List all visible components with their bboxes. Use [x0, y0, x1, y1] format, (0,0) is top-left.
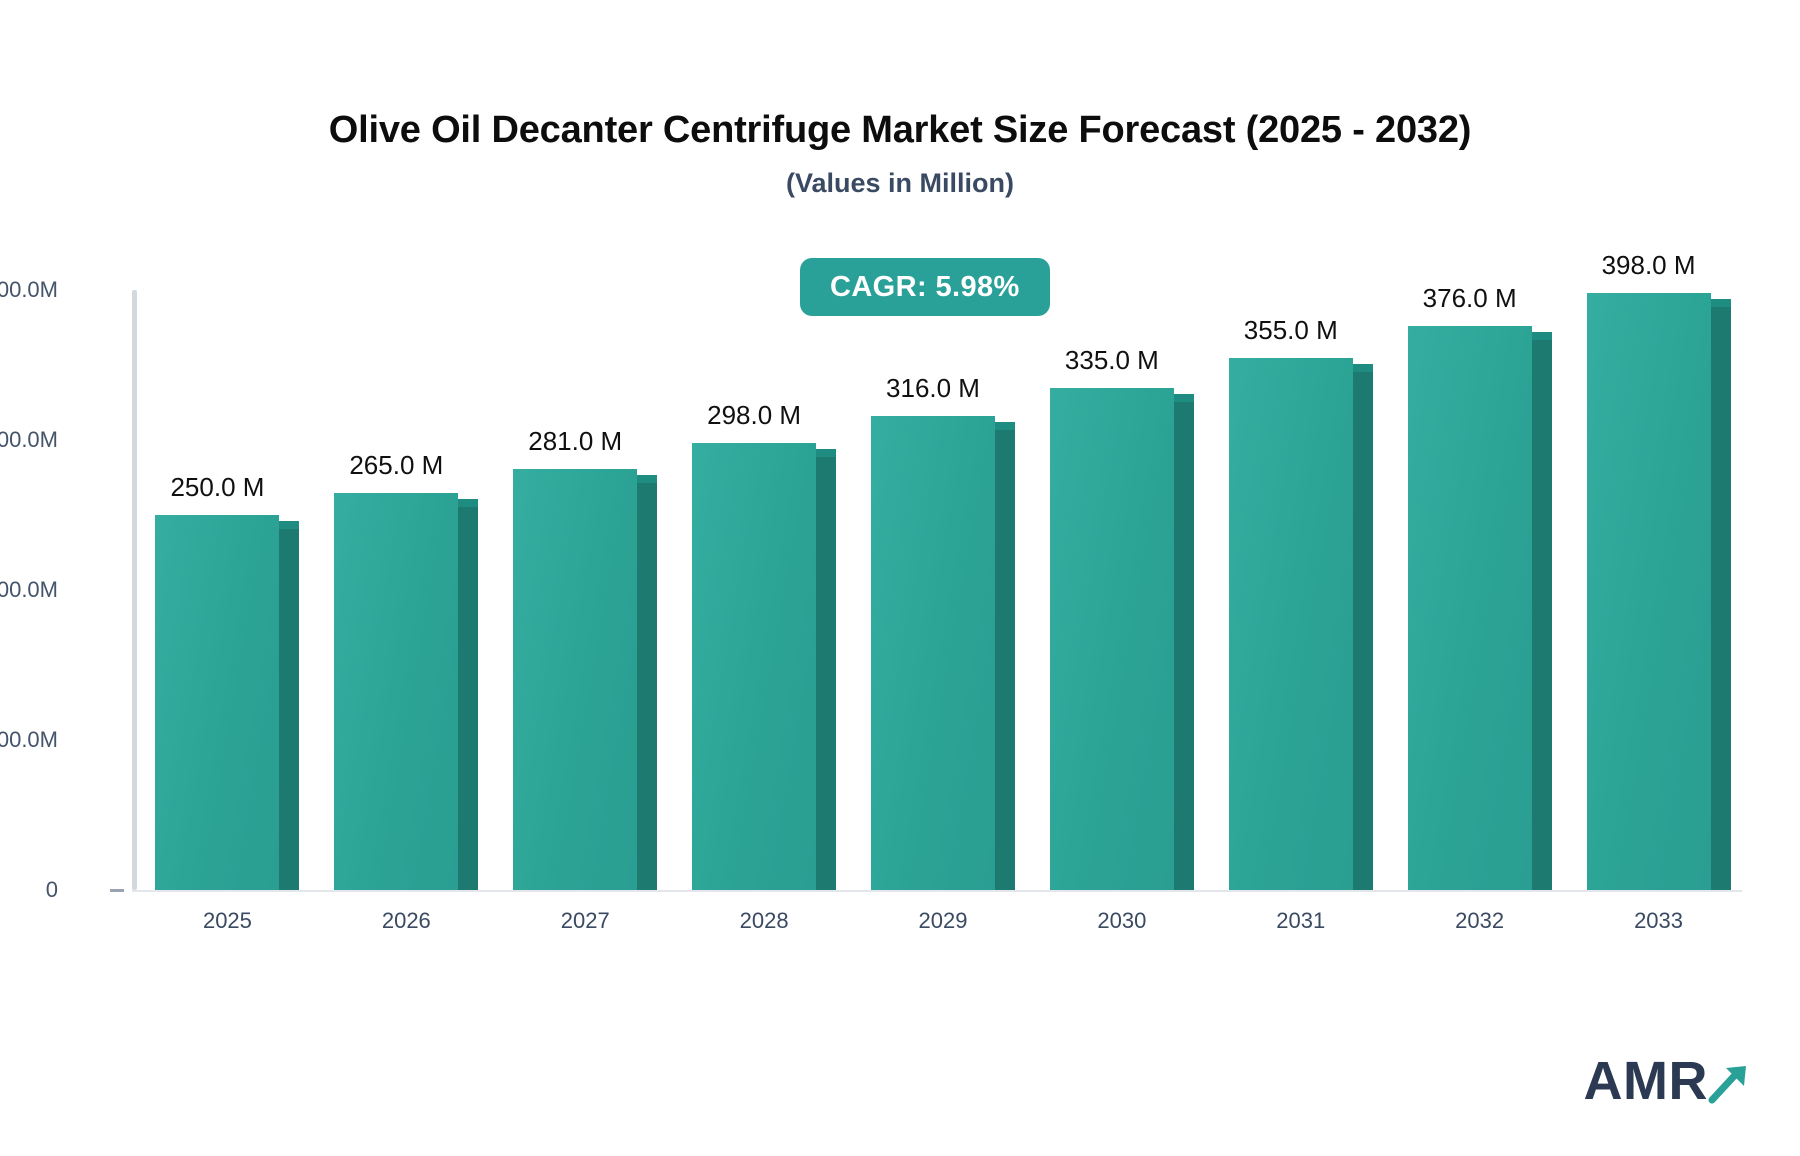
bar-face	[1587, 293, 1711, 890]
x-axis-tick-label: 2032	[1455, 908, 1504, 934]
bar-value-label: 250.0 M	[170, 472, 264, 503]
chart-subtitle: (Values in Million)	[0, 168, 1800, 199]
title-block: Olive Oil Decanter Centrifuge Market Siz…	[0, 110, 1800, 199]
x-axis-tick-label: 2033	[1634, 908, 1683, 934]
bar-value-label: 376.0 M	[1423, 283, 1517, 314]
bar-side-shadow	[279, 529, 299, 890]
bar-face	[513, 469, 637, 891]
bar-top-edge	[995, 422, 1015, 430]
x-axis-baseline	[132, 890, 1742, 892]
bar-face	[155, 515, 279, 890]
bar-face	[871, 416, 995, 890]
y-axis-tick-label: 100.0M	[0, 727, 58, 753]
bar-value-label: 298.0 M	[707, 400, 801, 431]
bar-top-edge	[1711, 299, 1731, 307]
bar-column: 250.0 M	[155, 515, 279, 890]
bar-face	[1050, 388, 1174, 891]
x-axis-tick-label: 2030	[1097, 908, 1146, 934]
page-title: Olive Oil Decanter Centrifuge Market Siz…	[0, 110, 1800, 152]
bar-value-label: 355.0 M	[1244, 315, 1338, 346]
x-axis-tick-label: 2027	[561, 908, 610, 934]
bar-top-edge	[637, 475, 657, 483]
chart-page: Olive Oil Decanter Centrifuge Market Siz…	[0, 0, 1800, 1156]
bar-column: 376.0 M	[1408, 326, 1532, 890]
bar-side-shadow	[1532, 340, 1552, 890]
bar-side-shadow	[816, 457, 836, 890]
y-axis-tick-label: 0	[0, 877, 58, 903]
bar-column: 335.0 M	[1050, 388, 1174, 891]
bar-column: 298.0 M	[692, 443, 816, 890]
bar-side-shadow	[1711, 307, 1731, 890]
x-axis-tick-label: 2026	[382, 908, 431, 934]
bar-column: 398.0 M	[1587, 293, 1711, 890]
bar-face	[1408, 326, 1532, 890]
bar-top-edge	[816, 449, 836, 457]
bar-column: 265.0 M	[334, 493, 458, 891]
plot-area: 400.0M300.0M200.0M100.0M0 250.0 M265.0 M…	[132, 290, 1742, 890]
bar-side-shadow	[995, 430, 1015, 890]
bar-face	[692, 443, 816, 890]
bar-series: 250.0 M265.0 M281.0 M298.0 M316.0 M335.0…	[132, 290, 1742, 890]
bar-side-shadow	[458, 507, 478, 891]
bar-face	[334, 493, 458, 891]
bar-face	[1229, 358, 1353, 891]
bar-side-shadow	[1174, 402, 1194, 891]
x-axis-tick-label: 2031	[1276, 908, 1325, 934]
bar-value-label: 316.0 M	[886, 373, 980, 404]
bar-value-label: 398.0 M	[1602, 250, 1696, 281]
bar-top-edge	[458, 499, 478, 507]
bar-top-edge	[1174, 394, 1194, 402]
x-axis-tick-label: 2025	[203, 908, 252, 934]
bar-side-shadow	[637, 483, 657, 891]
y-axis-tick-label: 300.0M	[0, 427, 58, 453]
bar-column: 355.0 M	[1229, 358, 1353, 891]
bar-top-edge	[1353, 364, 1373, 372]
amr-logo: AMR	[1584, 1054, 1752, 1108]
y-axis-zero-dash	[110, 889, 124, 892]
y-axis-tick-label: 400.0M	[0, 277, 58, 303]
bar-column: 281.0 M	[513, 469, 637, 891]
bar-top-edge	[1532, 332, 1552, 340]
bar-top-edge	[279, 521, 299, 529]
amr-wordmark: AMR	[1584, 1054, 1708, 1108]
bar-value-label: 281.0 M	[528, 426, 622, 457]
x-axis-tick-label: 2028	[740, 908, 789, 934]
bar-value-label: 265.0 M	[349, 450, 443, 481]
bar-value-label: 335.0 M	[1065, 345, 1159, 376]
x-axis-tick-label: 2029	[919, 908, 968, 934]
growth-arrow-icon	[1706, 1060, 1752, 1106]
bar-side-shadow	[1353, 372, 1373, 891]
y-axis-tick-label: 200.0M	[0, 577, 58, 603]
bar-column: 316.0 M	[871, 416, 995, 890]
